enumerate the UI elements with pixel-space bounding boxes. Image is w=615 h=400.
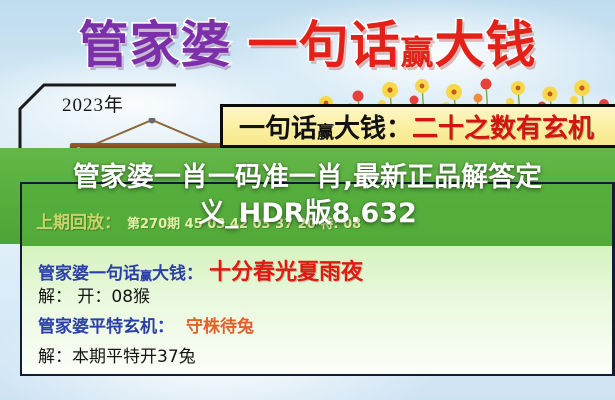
saying-key-b: 大钱： — [152, 264, 203, 284]
pingte-key: 管家婆平特玄机： — [38, 317, 174, 337]
row-last-draw-replay: 上期回放：第270期 45 03 42 03 37 20 特: 08 — [36, 208, 361, 233]
saying-value: 十分春光夏雨夜 — [209, 260, 363, 285]
yellow-banner: 一句话赢大钱： 二十之数有玄机 — [220, 104, 615, 148]
yellow-banner-label: 一句话赢大钱： — [239, 108, 412, 145]
saying-key-a: 管家婆一句话 — [38, 264, 140, 284]
saying-key-small: 赢 — [140, 269, 152, 283]
content-panel: 上期回放：第270期 45 03 42 03 37 20 特: 08 管家婆一句… — [20, 182, 615, 376]
saying-key: 管家婆一句话赢大钱： — [38, 264, 203, 284]
row-pingte: 管家婆平特玄机：守株待兔 — [38, 312, 254, 337]
yb-label-small: 赢 — [317, 123, 334, 143]
year-tag-label: 2023年 — [62, 90, 124, 117]
pingte-value: 守株待兔 — [186, 317, 254, 337]
row-pingte-answer: 解：本期平特开37兔 — [38, 342, 196, 367]
pingte-answer-text: 解：本期平特开37兔 — [38, 347, 196, 367]
yb-label-a: 一句话 — [239, 114, 317, 144]
yb-label-b: 大钱： — [334, 114, 412, 144]
saying-answer-text: 解： 开：08猴 — [38, 287, 150, 307]
row-saying-answer: 解： 开：08猴 — [38, 282, 150, 307]
yellow-banner-highlight: 二十之数有玄机 — [412, 108, 594, 145]
replay-numbers: 第270期 45 03 42 03 37 20 特: 08 — [127, 217, 361, 232]
poster-root: 管家婆 一句话赢大钱 2023年 271期 一句话赢大钱： 二十之数有玄机 上期… — [0, 0, 615, 400]
replay-label: 上期回放： — [36, 213, 121, 233]
